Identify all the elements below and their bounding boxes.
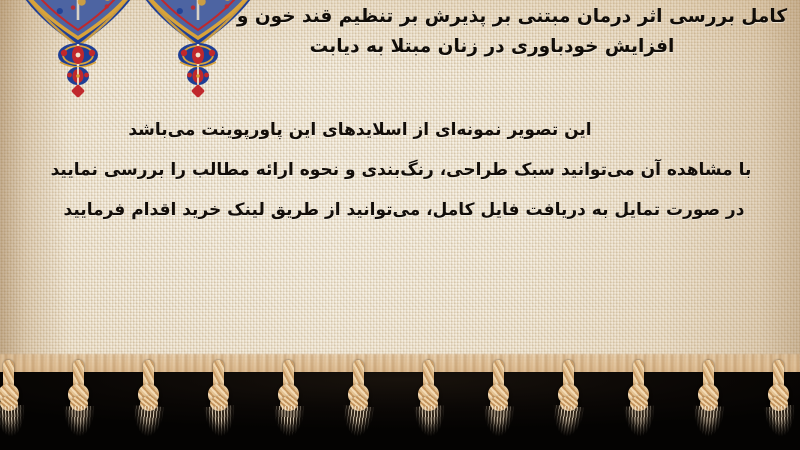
body-line-2: با مشاهده آن می‌توانید سبک طراحی، رنگ‌بن… — [20, 150, 782, 190]
tassel-fiber-skirt — [623, 405, 656, 444]
fringe-tassel — [552, 360, 586, 446]
fringe-tassel — [482, 360, 516, 446]
tassel-fiber-skirt — [482, 406, 515, 445]
body-line-1: این تصویر نمونه‌ای از اسلایدهای این پاور… — [20, 110, 700, 150]
tassel-fiber-skirt — [63, 406, 96, 445]
tassel-fiber-skirt — [273, 406, 305, 444]
fringe-tassel — [202, 360, 236, 446]
tassel-fiber-skirt — [763, 405, 798, 446]
tassel-fiber-skirt — [550, 405, 585, 446]
fringe-tassel — [692, 360, 726, 446]
tassel-fiber-skirt — [131, 405, 165, 445]
title-line-2: افزایش خودباوری در زنان مبتلا به دیابت — [232, 32, 752, 62]
pendant-medallion-left — [18, 0, 138, 107]
slide-canvas: کامل بررسی اثر درمان مبتنی بر پذیرش بر ت… — [0, 0, 800, 450]
body-line-3: در صورت تمایل به دریافت فایل کامل، می‌تو… — [20, 190, 788, 230]
fringe-tassel — [412, 360, 446, 446]
slide-title: کامل بررسی اثر درمان مبتنی بر پذیرش بر ت… — [232, 2, 792, 62]
tassel-fiber-skirt — [0, 405, 28, 446]
fringe-tassel — [132, 360, 166, 446]
fringe-tassel — [762, 360, 796, 446]
fringe-tassel — [622, 360, 656, 446]
fringe-tassel — [62, 360, 96, 446]
fringe-tassel — [342, 360, 376, 446]
title-line-1: کامل بررسی اثر درمان مبتنی بر پذیرش بر ت… — [232, 2, 792, 32]
tassel-fiber-skirt — [340, 405, 375, 445]
tassel-fiber-skirt — [203, 405, 238, 445]
fringe-tassel — [0, 360, 26, 446]
tassel-fiber-skirt — [692, 405, 725, 444]
fringe-tassel — [272, 360, 306, 446]
slide-body: این تصویر نمونه‌ای از اسلایدهای این پاور… — [20, 110, 788, 230]
carpet-fringe — [0, 360, 800, 450]
tassel-fiber-skirt — [413, 405, 447, 445]
